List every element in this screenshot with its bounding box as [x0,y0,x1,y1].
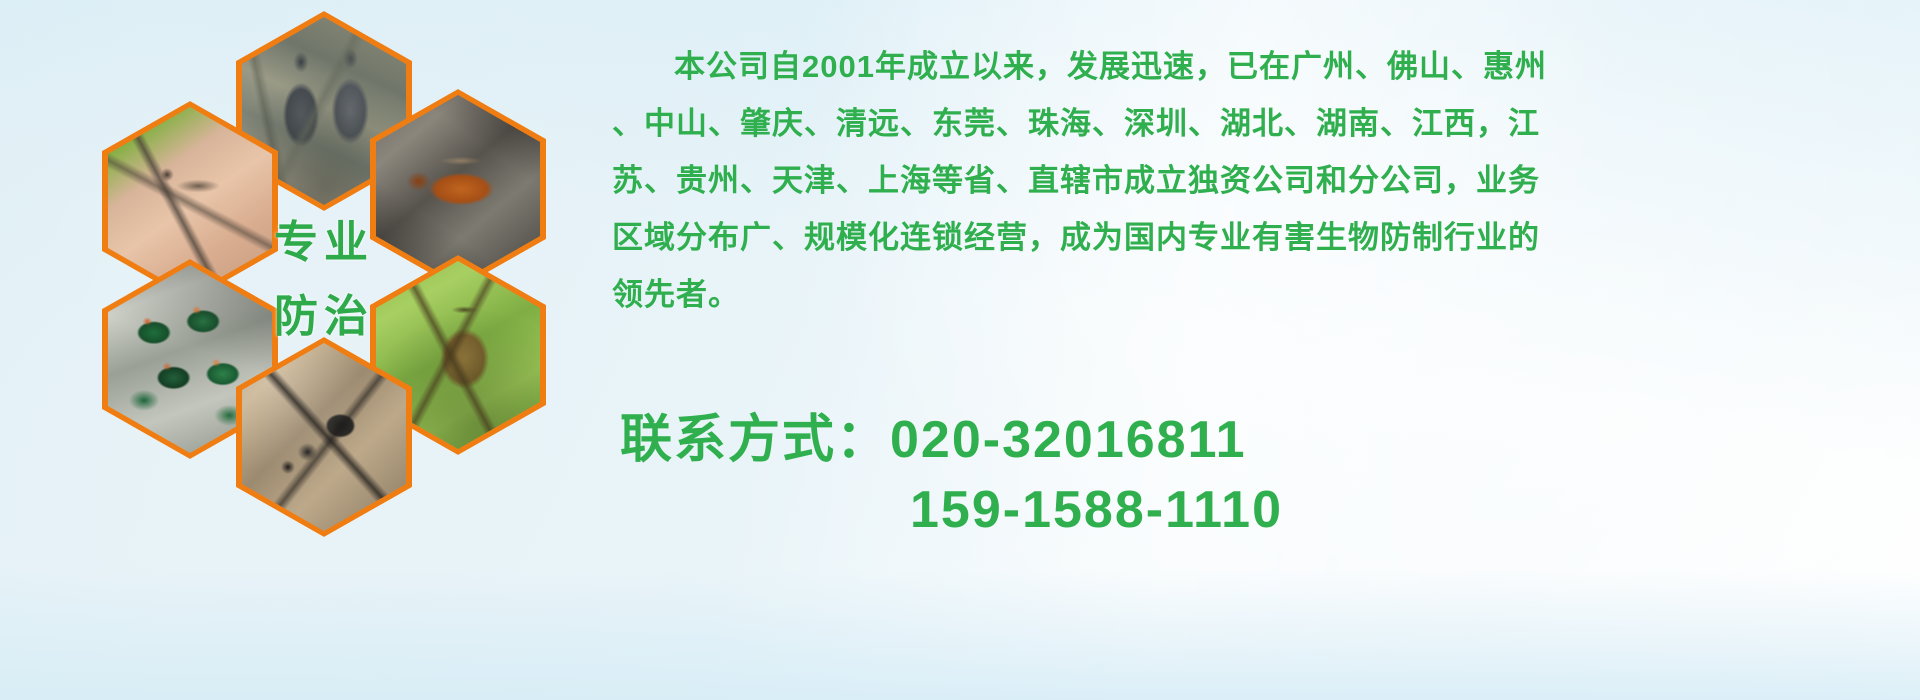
badge-line-1: 专业 [274,206,374,270]
description-line-3: 苏、贵州、天津、上海等省、直辖市成立独资公司和分公司，业务 [612,152,1912,209]
contact-block: 联系方式：020-32016811 159-1588-1110 [620,405,1910,545]
background-bottom-fade [0,570,1920,700]
description-line-1: 本公司自2001年成立以来，发展迅速，已在广州、佛山、惠州 [612,38,1912,95]
description-line-2: 、中山、肇庆、清远、东莞、珠海、深圳、湖北、湖南、江西，江 [612,95,1912,152]
pest-control-banner: 专业 防治 本公司自2001年成立以来，发展迅速，已在广州、佛山、惠州 、中山、… [0,0,1920,700]
contact-phone-landline[interactable]: 联系方式：020-32016811 [620,405,1910,475]
description-line-5: 领先者。 [612,266,1912,323]
company-description: 本公司自2001年成立以来，发展迅速，已在广州、佛山、惠州 、中山、肇庆、清远、… [612,38,1912,323]
badge-line-2: 防治 [274,280,374,344]
description-line-4: 区域分布广、规模化连锁经营，成为国内专业有害生物防制行业的 [612,209,1912,266]
hexagon-photo-cluster: 专业 防治 [90,5,590,565]
contact-phone-mobile[interactable]: 159-1588-1110 [620,475,1910,545]
